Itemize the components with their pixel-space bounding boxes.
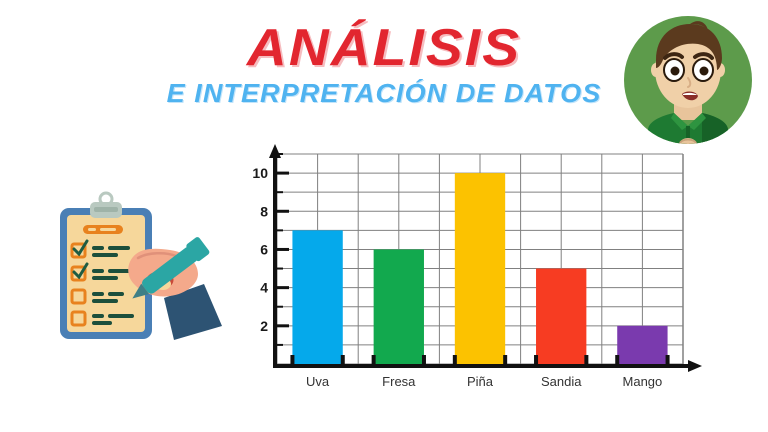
x-label-piña: Piña — [467, 374, 494, 389]
bar-piña — [455, 173, 505, 364]
infographic-canvas: ANÁLISIS E INTERPRETACIÓN DE DATOS — [0, 0, 768, 432]
x-label-sandia: Sandia — [541, 374, 582, 389]
y-label-4: 4 — [260, 280, 268, 296]
avatar — [618, 12, 758, 154]
bar-sandia — [536, 269, 586, 364]
student-avatar-icon — [618, 12, 758, 154]
bar-uva — [292, 230, 342, 364]
x-label-uva: Uva — [306, 374, 330, 389]
chart-svg: 246810 UvaFresaPiñaSandiaMango — [240, 140, 720, 410]
y-label-10: 10 — [252, 165, 268, 181]
y-label-6: 6 — [260, 241, 268, 257]
x-label-mango: Mango — [623, 374, 663, 389]
bar-fresa — [374, 249, 424, 364]
bar-mango — [617, 326, 667, 364]
bar-chart: 246810 UvaFresaPiñaSandiaMango — [240, 140, 720, 410]
x-label-fresa: Fresa — [382, 374, 416, 389]
chart-x-tick-labels: UvaFresaPiñaSandiaMango — [306, 374, 662, 389]
clipboard-icon — [52, 188, 228, 343]
chart-y-tick-labels: 246810 — [252, 165, 268, 334]
clipboard-illustration — [52, 188, 228, 343]
y-label-8: 8 — [260, 203, 268, 219]
y-label-2: 2 — [260, 318, 268, 334]
